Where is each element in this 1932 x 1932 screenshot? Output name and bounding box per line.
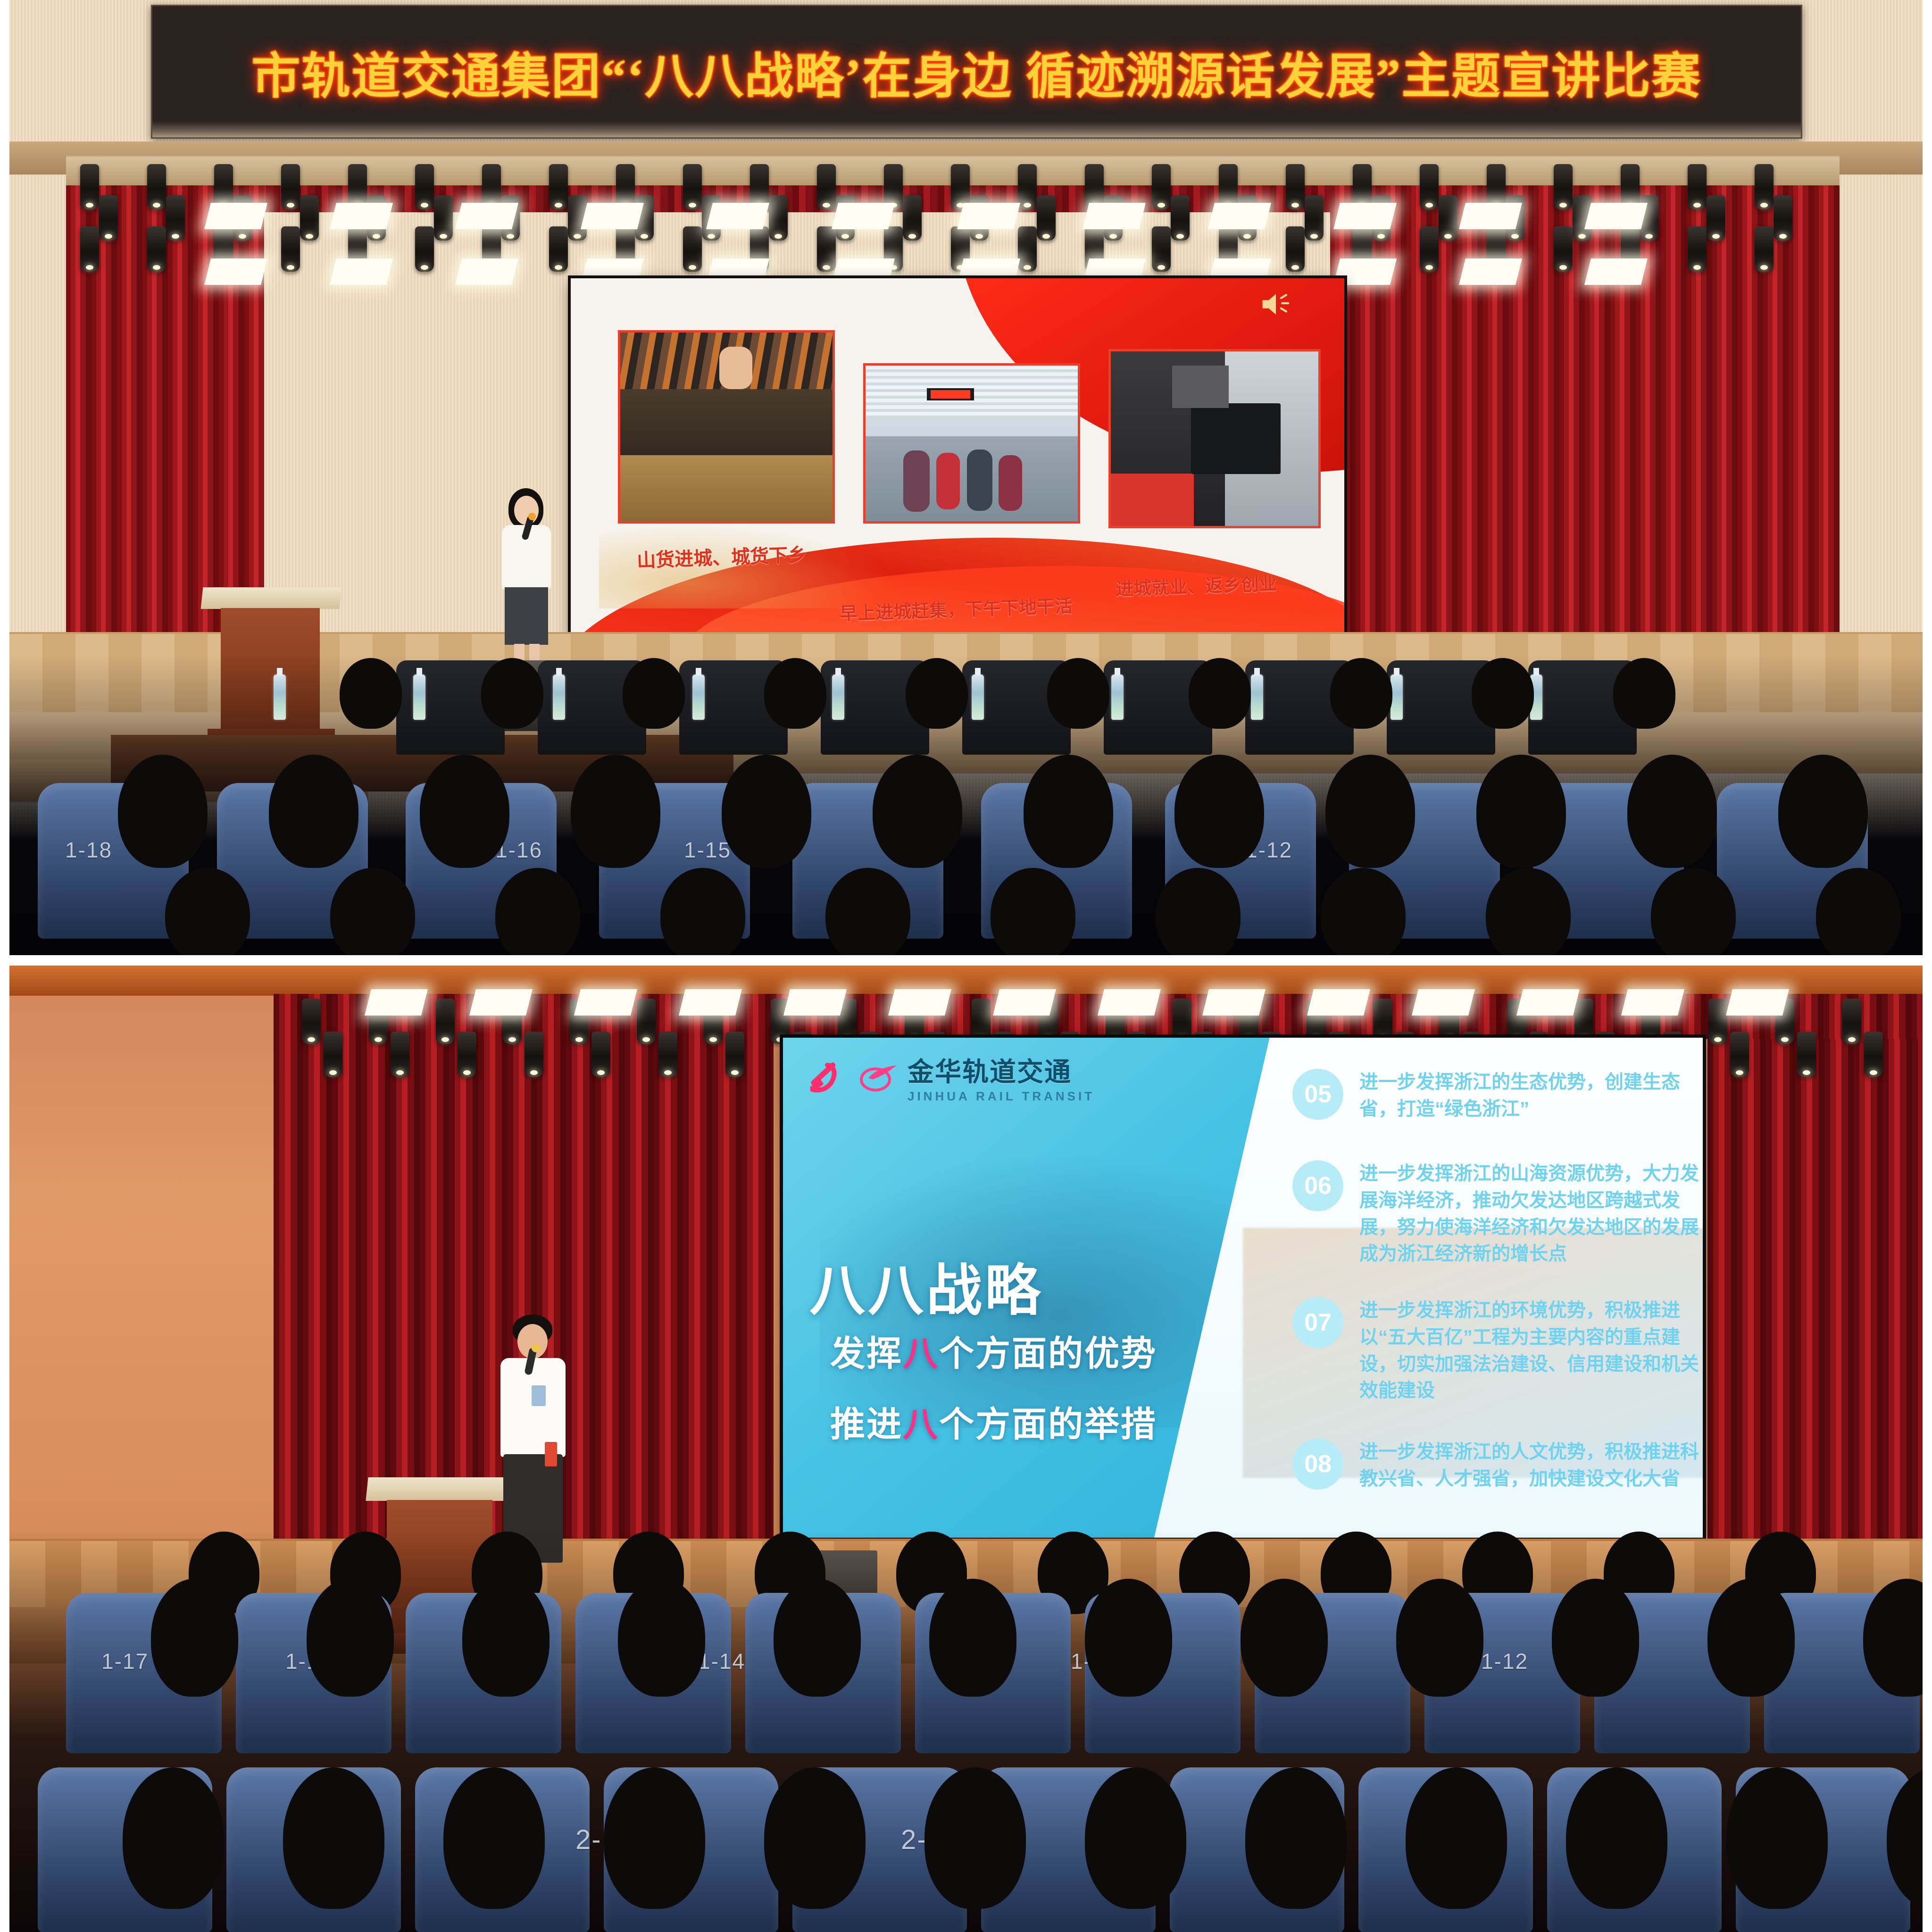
slide-photo-market-vendor xyxy=(618,330,835,524)
stage-light xyxy=(591,1032,610,1077)
theater-seat-front-row xyxy=(731,1876,929,1932)
led-banner-text: 市轨道交通集团“‘八八战略’在身边 循迹溯源话发展”主题宣讲比赛 xyxy=(251,37,1701,107)
audience-head xyxy=(1085,1579,1172,1697)
stage-light xyxy=(1708,999,1727,1044)
stage-light xyxy=(166,195,185,241)
water-bottle xyxy=(832,675,844,720)
ceiling-panel-light xyxy=(1098,989,1161,1016)
ceiling-panel-light xyxy=(832,203,895,229)
ceiling-panel-light xyxy=(455,258,518,285)
ceiling-panel-light xyxy=(204,258,267,285)
stage-light xyxy=(147,164,166,209)
ceiling-panel-light xyxy=(1083,203,1146,229)
stage-light xyxy=(1707,195,1725,241)
water-bottle xyxy=(1251,675,1263,720)
audience-head xyxy=(1486,868,1571,955)
slide-list-item-06: 06 进一步发挥浙江的山海资源优势，大力发展海洋经济，推动欠发达地区跨越式发展，… xyxy=(1292,1160,1703,1267)
stage-light xyxy=(637,999,656,1044)
ceiling-panel-light xyxy=(455,203,518,229)
stage-light xyxy=(80,164,99,209)
seat-number: 1-18 xyxy=(65,837,112,863)
slide-item-number-07: 07 xyxy=(1292,1297,1343,1348)
stage-light xyxy=(281,164,300,209)
slide-list-item-08: 08 进一步发挥浙江的人文优势，积极推进科教兴省、人才强省，加快建设文化大省 xyxy=(1292,1439,1703,1492)
stage-light xyxy=(415,226,434,272)
stage-light xyxy=(1688,164,1707,209)
audience-head xyxy=(1241,1579,1328,1697)
stage-light xyxy=(1173,999,1191,1044)
seat-number: 1-14 xyxy=(698,1649,745,1674)
stage-light xyxy=(1152,226,1171,272)
ceiling-panel-light xyxy=(706,203,769,229)
projection-screen-bottom: 金华轨道交通 JINHUA RAIL TRANSIT 八八战略 发挥八个方面的优… xyxy=(783,1038,1703,1538)
ceiling-panel-light xyxy=(679,989,742,1016)
stage-light xyxy=(1018,164,1037,209)
stage-light xyxy=(1797,1032,1816,1077)
slide-list-item-07: 07 进一步发挥浙江的环境优势，积极推进以“五大百亿”工程为主要内容的重点建设，… xyxy=(1292,1297,1703,1404)
seat-number: 1-12 xyxy=(1481,1649,1528,1674)
stage-light xyxy=(1439,195,1457,241)
theater-seat-front-row xyxy=(307,1876,505,1932)
ceiling-panel-light xyxy=(204,203,267,229)
slide-item-text-07: 进一步发挥浙江的环境优势，积极推进以“五大百亿”工程为主要内容的重点建设，切实加… xyxy=(1359,1297,1703,1404)
audience-head xyxy=(623,658,685,729)
audience-head xyxy=(1174,755,1264,868)
stage-light xyxy=(1171,195,1190,241)
stage-light xyxy=(725,1032,744,1077)
rail-transit-swoosh-icon xyxy=(856,1059,901,1095)
stage-light xyxy=(1688,226,1707,272)
stage-light xyxy=(99,195,118,241)
slide-item-text-05: 进一步发挥浙江的生态优势，创建生态省，打造“绿色浙江” xyxy=(1359,1069,1703,1123)
ceiling-panel-light xyxy=(1516,989,1580,1016)
ceiling-panel-light xyxy=(1584,203,1648,229)
audience-head xyxy=(307,1579,394,1697)
slide-item-number-05: 05 xyxy=(1292,1069,1343,1120)
subtitle-2-post: 个方面的举措 xyxy=(939,1405,1157,1444)
stage-light xyxy=(1305,195,1324,241)
water-bottle xyxy=(972,675,984,720)
stage-light xyxy=(1374,999,1392,1044)
stage-light xyxy=(658,1032,677,1077)
ceiling-panel-light xyxy=(581,203,644,229)
stage-light xyxy=(683,164,702,209)
stage-light xyxy=(1755,164,1774,209)
subtitle-1-highlight: 八 xyxy=(903,1334,939,1373)
ceiling-panel-light xyxy=(1333,203,1397,229)
audience-head xyxy=(1024,755,1113,868)
ceiling-panel-light xyxy=(330,203,393,229)
slide-item-text-06: 进一步发挥浙江的山海资源优势，大力发展海洋经济，推动欠发达地区跨越式发展，努力使… xyxy=(1359,1160,1703,1267)
theater-seat-front-row xyxy=(94,1876,292,1932)
stage-light xyxy=(1420,164,1439,209)
stage-light xyxy=(1574,999,1593,1044)
audience-head xyxy=(906,658,968,729)
stage-light xyxy=(525,1032,543,1077)
subtitle-2-highlight: 八 xyxy=(903,1405,939,1444)
cpc-hammer-sickle-icon xyxy=(806,1056,849,1099)
theater-seat-front-row xyxy=(1580,1876,1778,1932)
ceiling-panel-light xyxy=(574,989,637,1016)
stage-light xyxy=(300,195,319,241)
ceiling-panel-light xyxy=(330,258,393,285)
ceiling-panel-light xyxy=(957,203,1020,229)
logo-chinese-name: 金华轨道交通 xyxy=(908,1051,1095,1089)
slide-list-item-05: 05 进一步发挥浙江的生态优势，创建生态省，打造“绿色浙江” xyxy=(1292,1069,1703,1123)
audience-head xyxy=(825,868,910,955)
stage-light xyxy=(549,226,568,272)
slide-item-text-08: 进一步发挥浙江的人文优势，积极推进科教兴省、人才强省，加快建设文化大省 xyxy=(1359,1439,1703,1492)
projection-screen-top: 山货进城、城货下乡 早上进城赶集，下午下地干活 进城就业、返乡创业 xyxy=(571,278,1344,637)
audience-head xyxy=(1325,755,1415,868)
stage-light xyxy=(302,999,321,1044)
audience-head xyxy=(764,658,826,729)
stage-light xyxy=(817,226,836,272)
slide-photo-commuter-laptop xyxy=(1108,349,1321,528)
audience-head xyxy=(991,868,1075,955)
stage-light xyxy=(80,226,99,272)
slide-item-number-06: 06 xyxy=(1292,1160,1343,1211)
water-bottle xyxy=(413,675,425,720)
audience-head xyxy=(774,1579,861,1697)
stage-light xyxy=(817,164,836,209)
audience-head xyxy=(118,755,208,868)
stage-light xyxy=(683,226,702,272)
audience-head xyxy=(151,1579,238,1697)
slide-title: 八八战略 xyxy=(809,1245,1043,1326)
logo-english-name: JINHUA RAIL TRANSIT xyxy=(908,1089,1095,1104)
stage-light xyxy=(1864,1032,1883,1077)
stage-light xyxy=(1774,195,1792,241)
stage-light xyxy=(972,999,991,1044)
composite-event-photo: 市轨道交通集团“‘八八战略’在身边 循迹溯源话发展”主题宣讲比赛 xyxy=(0,0,1932,1932)
ceiling-panel-light xyxy=(783,989,847,1016)
audience-head xyxy=(722,755,811,868)
stage-light xyxy=(1842,999,1861,1044)
bottom-photo: 金华轨道交通 JINHUA RAIL TRANSIT 八八战略 发挥八个方面的优… xyxy=(9,966,1923,1932)
audience-head xyxy=(1189,658,1251,729)
audience-head xyxy=(618,1579,705,1697)
ceiling-panel-light xyxy=(1307,989,1370,1016)
water-bottle xyxy=(553,675,565,720)
stage-light xyxy=(903,195,922,241)
seat-number: 1-17 xyxy=(101,1649,149,1674)
audience-head xyxy=(269,755,358,868)
stage-light xyxy=(415,164,434,209)
audience-head xyxy=(462,1579,550,1697)
stage-light xyxy=(147,226,166,272)
audience-head xyxy=(1707,1579,1795,1697)
audience-head xyxy=(1816,868,1901,955)
audience-head xyxy=(1396,1579,1483,1697)
slide-item-number-08: 08 xyxy=(1292,1439,1343,1490)
theater-seat-front-row xyxy=(1156,1876,1354,1932)
stage-light xyxy=(769,195,788,241)
theater-seat-front-row xyxy=(1792,1876,1923,1932)
audience-head xyxy=(1156,868,1241,955)
stage-light xyxy=(434,195,453,241)
water-bottle xyxy=(692,675,705,720)
stage-light xyxy=(1730,1032,1749,1077)
audience-head xyxy=(1476,755,1566,868)
audience-head xyxy=(330,868,415,955)
ceiling-panel-light xyxy=(1621,989,1684,1016)
jinhua-rail-transit-logo: 金华轨道交通 JINHUA RAIL TRANSIT xyxy=(806,1051,1095,1104)
led-banner: 市轨道交通集团“‘八八战略’在身边 循迹溯源话发展”主题宣讲比赛 xyxy=(151,5,1802,139)
stage-light xyxy=(1286,164,1305,209)
audience-head xyxy=(660,868,745,955)
stage-light xyxy=(1152,164,1171,209)
stage-light xyxy=(1420,226,1439,272)
stage-light xyxy=(549,164,568,209)
audience-head xyxy=(1613,658,1675,729)
ceiling-panel-light xyxy=(1459,258,1522,285)
ceiling-panel-light xyxy=(1584,258,1648,285)
stage-light xyxy=(1554,226,1573,272)
stage-light xyxy=(1037,195,1056,241)
audience-head xyxy=(340,658,402,729)
ceiling-panel-light xyxy=(469,989,533,1016)
water-bottle xyxy=(1111,675,1124,720)
slide-photo-station-crowd xyxy=(863,363,1080,524)
theater-seat-front-row xyxy=(943,1876,1141,1932)
water-bottle xyxy=(274,675,286,720)
slide-subtitle-1: 发挥八个方面的优势 xyxy=(830,1325,1157,1376)
audience-head xyxy=(420,755,509,868)
theater-seat-front-row xyxy=(519,1876,717,1932)
audience-head xyxy=(1627,755,1717,868)
speaker-volume-icon xyxy=(1259,288,1292,321)
stage-light xyxy=(1755,226,1774,272)
subtitle-2-pre: 推进 xyxy=(830,1405,903,1444)
stage-light xyxy=(1018,226,1037,272)
stage-light xyxy=(391,1032,409,1077)
audience-head xyxy=(1330,658,1392,729)
audience-head xyxy=(873,755,962,868)
seat-number: 1-15 xyxy=(684,837,731,863)
stage-light xyxy=(1554,164,1573,209)
audience-head xyxy=(929,1579,1016,1697)
stage-light xyxy=(1286,226,1305,272)
audience-head xyxy=(1321,868,1406,955)
subtitle-1-pre: 发挥 xyxy=(830,1334,903,1373)
presenter-badge-lanyard xyxy=(532,1385,546,1406)
audience-head xyxy=(481,658,543,729)
audience-head xyxy=(1472,658,1534,729)
subtitle-1-post: 个方面的优势 xyxy=(939,1334,1157,1373)
audience-head xyxy=(1552,1579,1639,1697)
audience-head xyxy=(495,868,580,955)
audience-head xyxy=(1651,868,1736,955)
ceiling-panel-light xyxy=(993,989,1056,1016)
audience-head xyxy=(1778,755,1868,868)
audience-head xyxy=(571,755,660,868)
ceiling-panel-light xyxy=(1459,203,1522,229)
audience-head xyxy=(1047,658,1109,729)
slide-subtitle-2: 推进八个方面的举措 xyxy=(830,1396,1157,1447)
ceiling-panel-light xyxy=(365,989,428,1016)
audience-head xyxy=(165,868,250,955)
stage-light xyxy=(281,226,300,272)
ceiling-panel-light xyxy=(888,989,951,1016)
top-photo: 市轨道交通集团“‘八八战略’在身边 循迹溯源话发展”主题宣讲比赛 xyxy=(9,0,1923,955)
stage-light xyxy=(458,1032,476,1077)
ceiling-panel-light xyxy=(1208,203,1271,229)
ceiling-panel-light xyxy=(1726,989,1789,1016)
stage-light xyxy=(436,999,455,1044)
stage-light xyxy=(324,1032,342,1077)
ceiling-panel-light xyxy=(1412,989,1475,1016)
theater-seat-front-row xyxy=(1368,1876,1566,1932)
ceiling-panel-light xyxy=(1202,989,1266,1016)
